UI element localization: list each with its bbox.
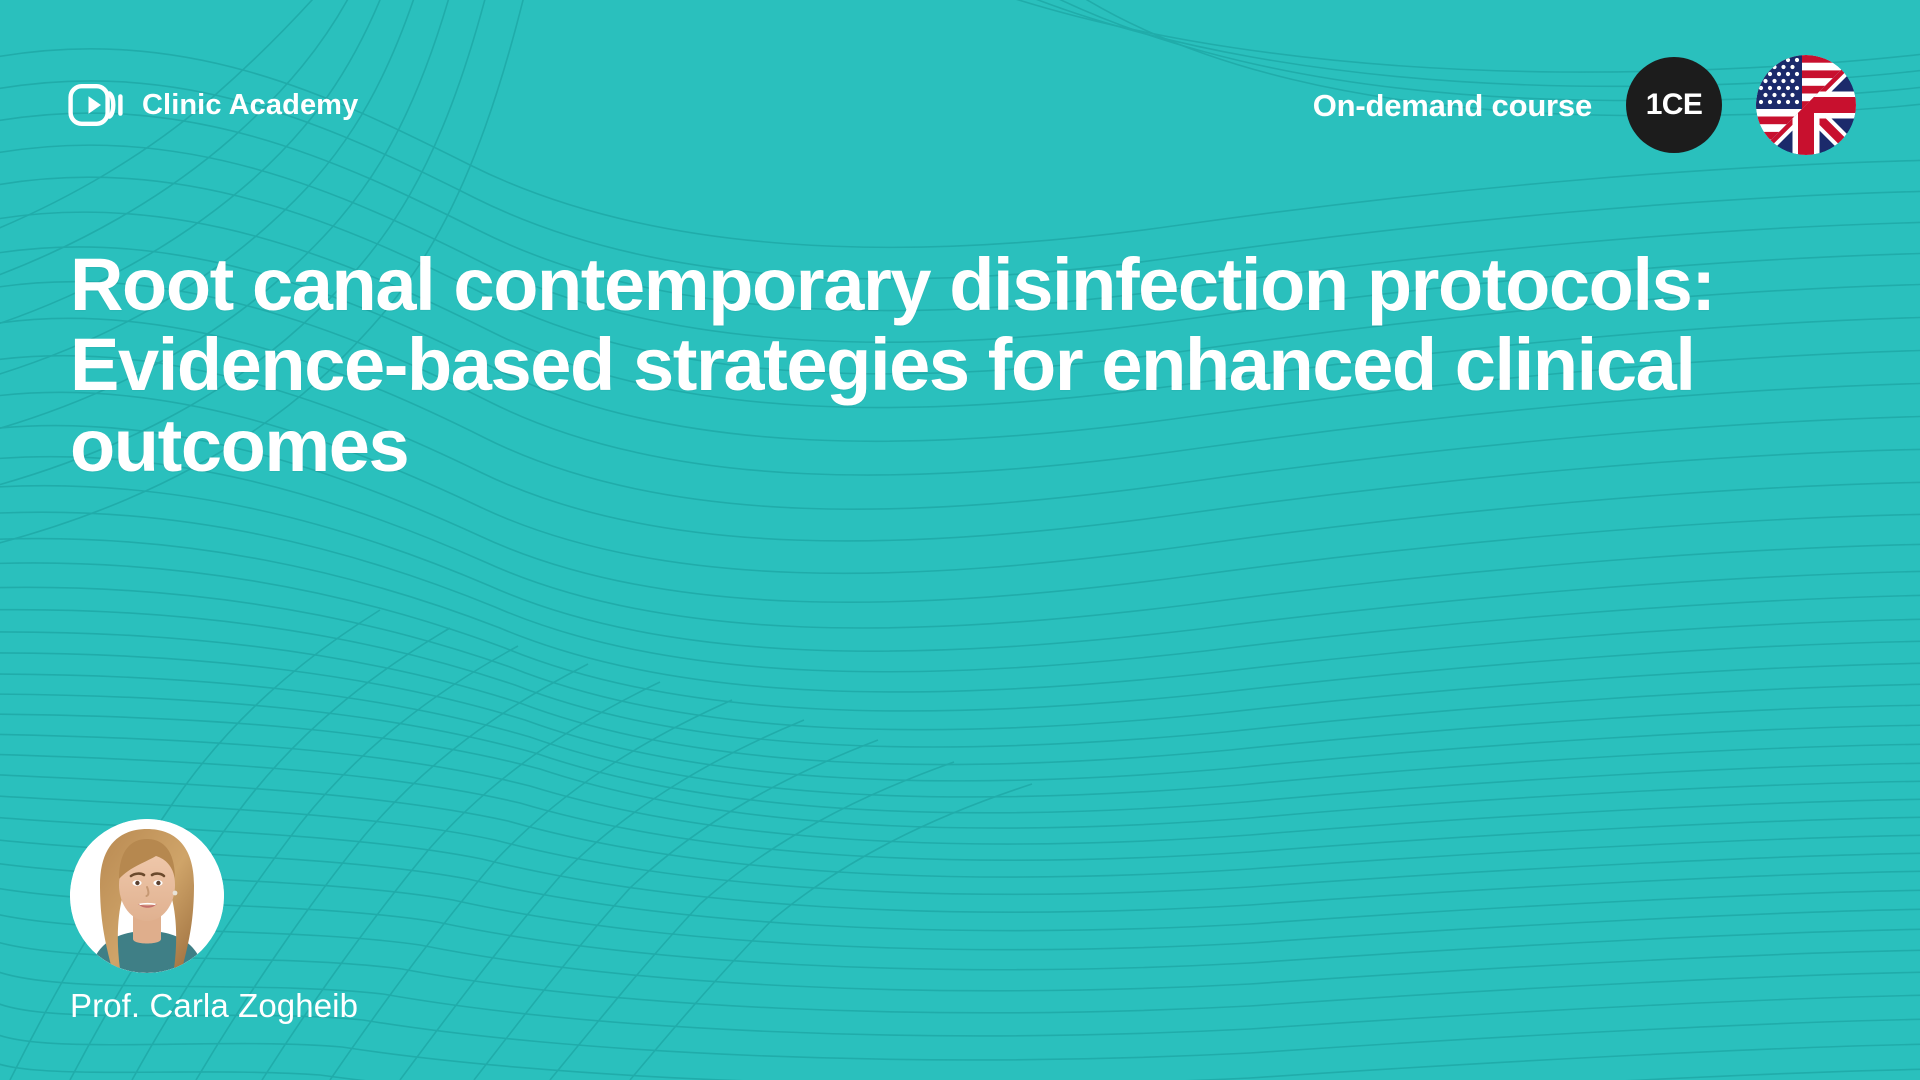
header-bar: Clinic Academy On-demand course 1CE — [0, 0, 1920, 210]
title-block: Root canal contemporary disinfection pro… — [70, 245, 1790, 486]
avatar — [70, 819, 224, 973]
ce-credit-badge[interactable]: 1CE — [1626, 57, 1722, 153]
ce-credit-label: 1CE — [1646, 90, 1703, 120]
brand-name-label: Clinic Academy — [142, 91, 358, 120]
us-uk-flag-icon[interactable] — [1756, 55, 1856, 155]
presenter-block: Prof. Carla Zogheib — [70, 819, 358, 1022]
header-right-group: On-demand course 1CE — [1313, 57, 1856, 153]
slide-content: Clinic Academy On-demand course 1CE — [0, 0, 1920, 1080]
course-type-label: On-demand course — [1313, 90, 1592, 121]
brand-logo[interactable]: Clinic Academy — [68, 74, 358, 136]
presenter-name-label: Prof. Carla Zogheib — [70, 989, 358, 1022]
video-camera-icon — [68, 83, 124, 127]
page-title: Root canal contemporary disinfection pro… — [70, 245, 1790, 486]
